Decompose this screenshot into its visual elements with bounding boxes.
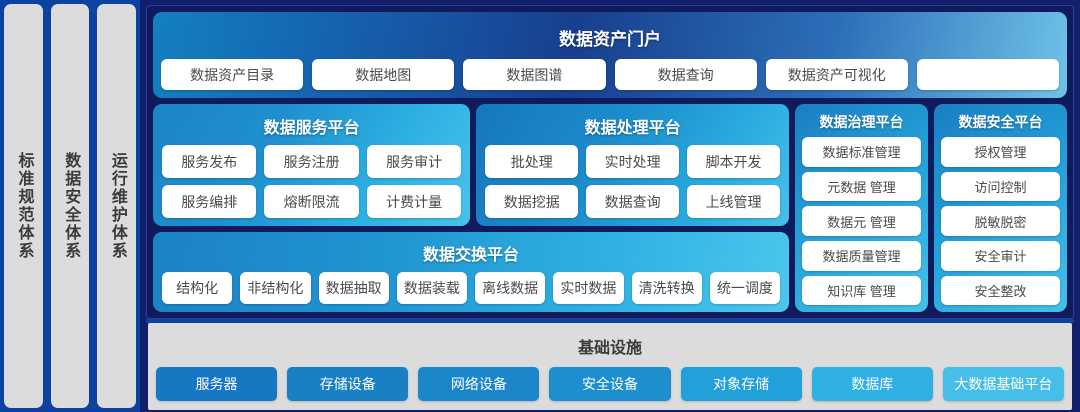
panel-title: 数据服务平台 xyxy=(162,114,461,138)
exchange-item-structured[interactable]: 结构化 xyxy=(162,272,232,304)
processing-item-script-dev[interactable]: 脚本开发 xyxy=(687,145,780,178)
service-item-billing[interactable]: 计费计量 xyxy=(367,185,461,218)
architecture-diagram: 标准规范体系 数据安全体系 运行维护体系 数据资产门户 数据资产目录 数据地图 … xyxy=(0,0,1080,412)
service-item-publish[interactable]: 服务发布 xyxy=(162,145,256,178)
main-body: 数据资产门户 数据资产目录 数据地图 数据图谱 数据查询 数据资产可视化 xyxy=(140,0,1080,412)
infra-item-database[interactable]: 数据库 xyxy=(812,367,933,401)
sidebar-pillar-label: 数据安全体系 xyxy=(61,152,79,260)
governance-item-knowledge-base-mgmt[interactable]: 知识库 管理 xyxy=(802,276,921,306)
governance-item-metadata-mgmt[interactable]: 元数据 管理 xyxy=(802,172,921,202)
service-item-audit[interactable]: 服务审计 xyxy=(367,145,461,178)
infrastructure-title: 基础设施 xyxy=(156,334,1064,358)
security-item-access-control[interactable]: 访问控制 xyxy=(941,172,1060,202)
portal-item-empty[interactable] xyxy=(917,59,1059,90)
service-platform-items: 服务发布 服务注册 服务审计 服务编排 熔断限流 计费计量 xyxy=(162,145,461,218)
security-item-desensitization[interactable]: 脱敏脱密 xyxy=(941,206,1060,236)
panel-data-service-platform: 数据服务平台 服务发布 服务注册 服务审计 服务编排 熔断限流 xyxy=(153,104,470,226)
security-item-authorization-mgmt[interactable]: 授权管理 xyxy=(941,137,1060,167)
panel-data-governance-platform: 数据治理平台 数据标准管理 元数据 管理 数据元 管理 数据质量管理 知识库 管… xyxy=(795,104,928,312)
platform-stack: 数据资产门户 数据资产目录 数据地图 数据图谱 数据查询 数据资产可视化 xyxy=(146,5,1074,319)
infrastructure-panel: 基础设施 服务器 存储设备 网络设备 安全设备 对象存储 数据库 大数据基础平台 xyxy=(148,323,1072,410)
service-platform-row: 服务编排 熔断限流 计费计量 xyxy=(162,185,461,218)
infrastructure-section: 基础设施 服务器 存储设备 网络设备 安全设备 对象存储 数据库 大数据基础平台 xyxy=(146,319,1074,412)
portal-item-asset-catalog[interactable]: 数据资产目录 xyxy=(161,59,303,90)
sidebar-pillar-label: 运行维护体系 xyxy=(107,152,125,260)
service-item-register[interactable]: 服务注册 xyxy=(264,145,358,178)
exchange-item-realtime-data[interactable]: 实时数据 xyxy=(553,272,623,304)
governance-item-data-quality-mgmt[interactable]: 数据质量管理 xyxy=(802,241,921,271)
governance-item-data-element-mgmt[interactable]: 数据元 管理 xyxy=(802,206,921,236)
exchange-item-offline-data[interactable]: 离线数据 xyxy=(475,272,545,304)
governance-platform-items: 数据标准管理 元数据 管理 数据元 管理 数据质量管理 知识库 管理 xyxy=(802,137,921,305)
infra-item-storage-device[interactable]: 存储设备 xyxy=(287,367,408,401)
sidebar-pillar-operations[interactable]: 运行维护体系 xyxy=(97,4,136,408)
middle-band: 数据服务平台 服务发布 服务注册 服务审计 服务编排 熔断限流 xyxy=(153,104,1067,312)
infra-item-server[interactable]: 服务器 xyxy=(156,367,277,401)
sidebar-pillar-data-security[interactable]: 数据安全体系 xyxy=(51,4,90,408)
sidebar-pillar-label: 标准规范体系 xyxy=(14,152,32,260)
processing-item-release-mgmt[interactable]: 上线管理 xyxy=(687,185,780,218)
service-platform-row: 服务发布 服务注册 服务审计 xyxy=(162,145,461,178)
panel-data-security-platform: 数据安全平台 授权管理 访问控制 脱敏脱密 安全审计 安全整改 xyxy=(934,104,1067,312)
processing-platform-row: 数据挖据 数据查询 上线管理 xyxy=(485,185,780,218)
infra-item-network-device[interactable]: 网络设备 xyxy=(418,367,539,401)
panel-title: 数据安全平台 xyxy=(941,112,1060,132)
panel-title: 数据处理平台 xyxy=(485,114,780,138)
infra-item-bigdata-platform[interactable]: 大数据基础平台 xyxy=(943,367,1064,401)
portal-item-asset-visualization[interactable]: 数据资产可视化 xyxy=(766,59,908,90)
processing-platform-items: 批处理 实时处理 脚本开发 数据挖据 数据查询 上线管理 xyxy=(485,145,780,218)
security-item-security-audit[interactable]: 安全审计 xyxy=(941,241,1060,271)
service-item-circuit-breaker[interactable]: 熔断限流 xyxy=(264,185,358,218)
security-platform-items: 授权管理 访问控制 脱敏脱密 安全审计 安全整改 xyxy=(941,137,1060,305)
panel-data-processing-platform: 数据处理平台 批处理 实时处理 脚本开发 数据挖据 数据查询 xyxy=(476,104,789,226)
panel-title: 数据交换平台 xyxy=(162,241,780,265)
panel-data-exchange-platform: 数据交换平台 结构化 非结构化 数据抽取 数据装载 离线数据 实时数据 清洗转换… xyxy=(153,232,789,312)
exchange-item-clean-transform[interactable]: 清洗转换 xyxy=(632,272,702,304)
portal-item-data-graph[interactable]: 数据图谱 xyxy=(463,59,605,90)
portal-item-data-map[interactable]: 数据地图 xyxy=(312,59,454,90)
governance-item-data-standard-mgmt[interactable]: 数据标准管理 xyxy=(802,137,921,167)
panel-title: 数据资产门户 xyxy=(161,25,1059,50)
infra-item-security-device[interactable]: 安全设备 xyxy=(549,367,670,401)
middle-left-top-row: 数据服务平台 服务发布 服务注册 服务审计 服务编排 熔断限流 xyxy=(153,104,789,226)
middle-left-column: 数据服务平台 服务发布 服务注册 服务审计 服务编排 熔断限流 xyxy=(153,104,789,312)
portal-items: 数据资产目录 数据地图 数据图谱 数据查询 数据资产可视化 xyxy=(161,59,1059,90)
sidebar-pillar-standards[interactable]: 标准规范体系 xyxy=(4,4,43,408)
processing-item-mining[interactable]: 数据挖据 xyxy=(485,185,578,218)
sidebar-pillars: 标准规范体系 数据安全体系 运行维护体系 xyxy=(0,0,140,412)
infrastructure-items: 服务器 存储设备 网络设备 安全设备 对象存储 数据库 大数据基础平台 xyxy=(156,367,1064,401)
exchange-platform-items: 结构化 非结构化 数据抽取 数据装载 离线数据 实时数据 清洗转换 统一调度 xyxy=(162,272,780,304)
panel-data-asset-portal: 数据资产门户 数据资产目录 数据地图 数据图谱 数据查询 数据资产可视化 xyxy=(153,12,1067,98)
processing-item-query[interactable]: 数据查询 xyxy=(586,185,679,218)
processing-item-realtime[interactable]: 实时处理 xyxy=(586,145,679,178)
exchange-item-unstructured[interactable]: 非结构化 xyxy=(240,272,310,304)
processing-item-batch[interactable]: 批处理 xyxy=(485,145,578,178)
portal-item-data-query[interactable]: 数据查询 xyxy=(615,59,757,90)
panel-title: 数据治理平台 xyxy=(802,112,921,132)
infra-item-object-storage[interactable]: 对象存储 xyxy=(681,367,802,401)
exchange-item-unified-scheduling[interactable]: 统一调度 xyxy=(710,272,780,304)
processing-platform-row: 批处理 实时处理 脚本开发 xyxy=(485,145,780,178)
security-item-security-rectification[interactable]: 安全整改 xyxy=(941,276,1060,306)
exchange-item-load[interactable]: 数据装载 xyxy=(397,272,467,304)
exchange-item-extract[interactable]: 数据抽取 xyxy=(319,272,389,304)
service-item-orchestration[interactable]: 服务编排 xyxy=(162,185,256,218)
